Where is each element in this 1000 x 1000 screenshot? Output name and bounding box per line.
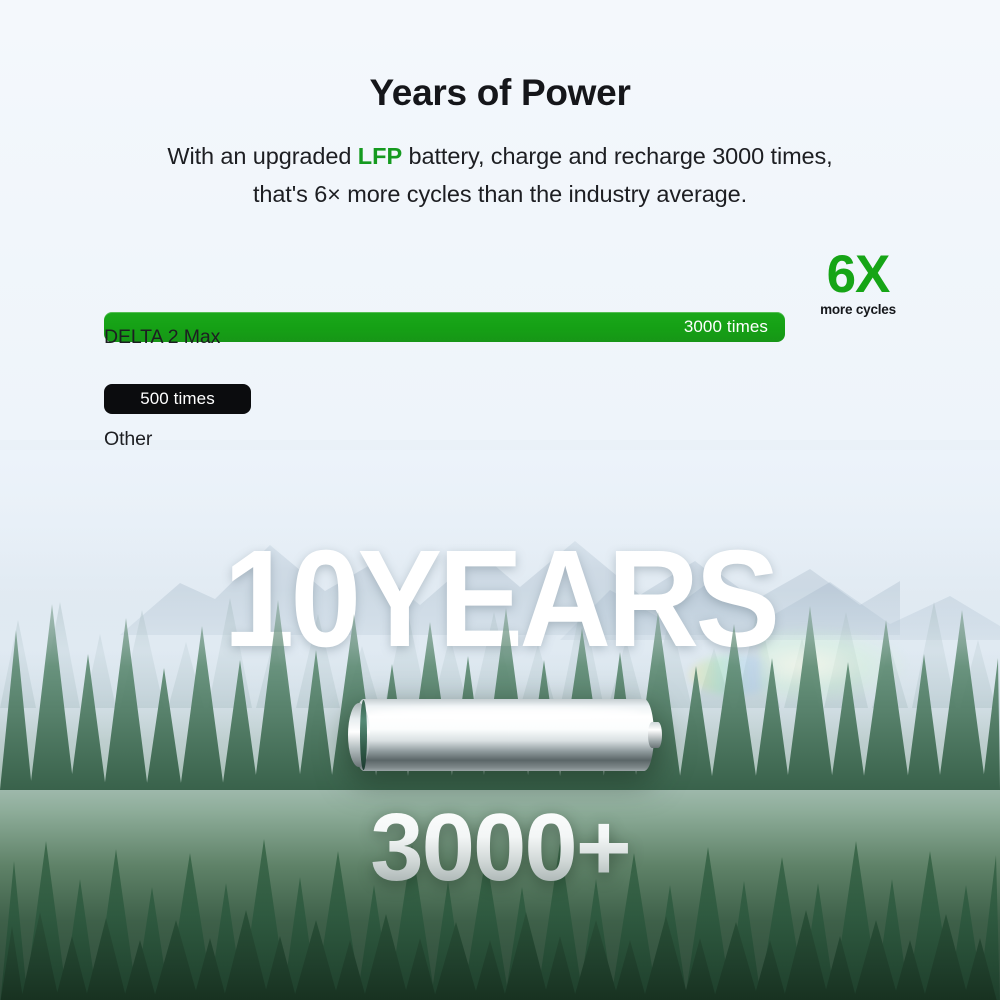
subtitle-text-tail: battery, charge and recharge 3000 times,: [402, 143, 832, 169]
tree-band-bottom: [0, 910, 1000, 1000]
header: Years of Power With an upgraded LFP batt…: [0, 0, 1000, 213]
forest-scene: 10YEARS: [0, 440, 1000, 1000]
page-subtitle: With an upgraded LFP battery, charge and…: [0, 137, 1000, 213]
bar-label-delta-2-max: DELTA 2 Max: [104, 326, 220, 349]
multiplier-callout: 6X more cycles: [798, 252, 918, 317]
cycle-comparison-chart: 3000 times DELTA 2 Max 500 times Other 6…: [0, 250, 1000, 460]
page-title: Years of Power: [0, 74, 1000, 111]
chart-row-delta-2-max: 3000 times: [104, 281, 785, 311]
battery-highlight: [370, 707, 642, 721]
battery-seal-ring: [360, 700, 367, 770]
bar-label-other: Other: [104, 428, 152, 451]
multiplier-value: 6X: [798, 252, 918, 299]
subtitle-line-two: that's 6× more cycles than the industry …: [253, 181, 747, 207]
subtitle-lfp-highlight: LFP: [358, 143, 402, 169]
bar-other: 500 times: [104, 384, 251, 414]
promo-page: Years of Power With an upgraded LFP batt…: [0, 0, 1000, 1000]
battery-cell-icon: [344, 699, 660, 771]
bar-value-other: 500 times: [104, 389, 251, 409]
chart-row-other: 500 times: [104, 384, 251, 414]
hero-cycles-count: 3000+: [0, 800, 1000, 896]
subtitle-text-lead: With an upgraded: [167, 143, 357, 169]
multiplier-caption: more cycles: [798, 302, 918, 317]
battery-terminal: [648, 722, 662, 748]
bar-value-delta-2-max: 3000 times: [684, 317, 785, 337]
